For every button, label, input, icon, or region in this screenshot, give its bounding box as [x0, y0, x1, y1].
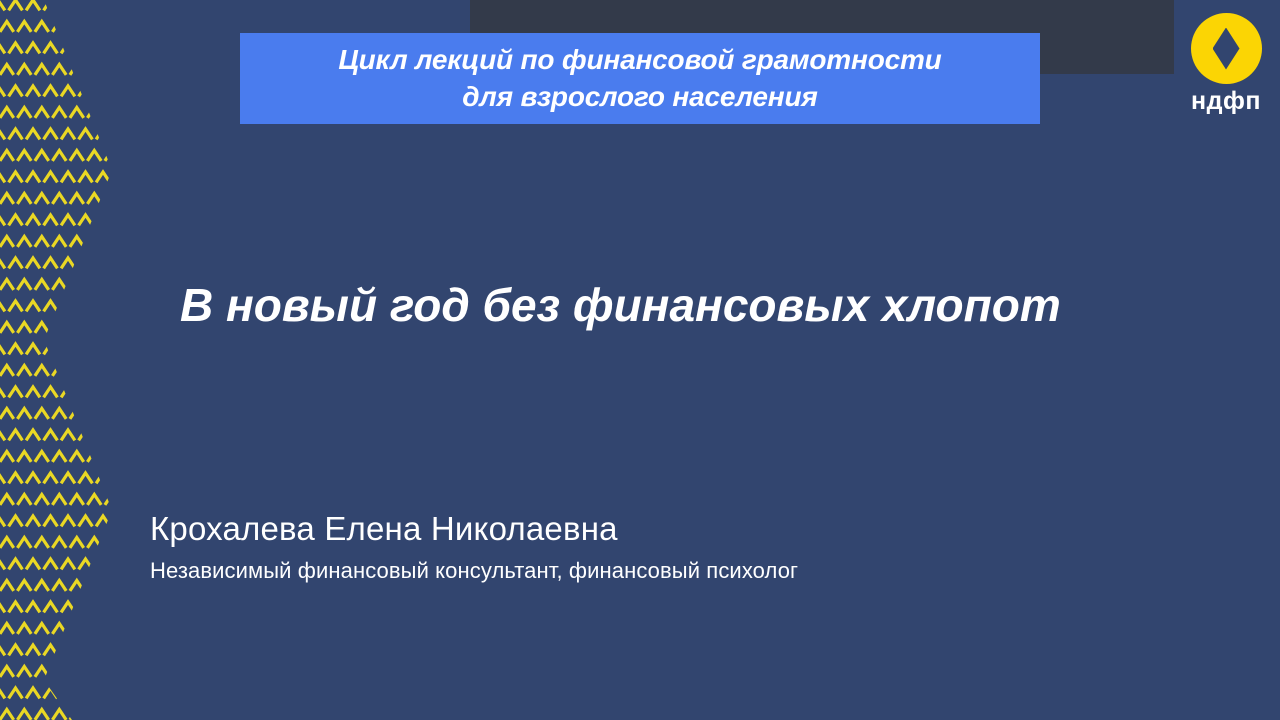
logo-text: ндфп	[1185, 87, 1267, 116]
header-banner: Цикл лекций по финансовой грамотности дл…	[240, 33, 1040, 124]
presentation-slide: Цикл лекций по финансовой грамотности дл…	[0, 0, 1280, 720]
author-role: Независимый финансовый консультант, фина…	[150, 557, 1050, 586]
slide-title: В новый год без финансовых хлопот	[180, 278, 1120, 333]
diamond-shape	[1213, 28, 1240, 70]
header-banner-line-1: Цикл лекций по финансовой грамотности	[338, 42, 941, 79]
author-block: Крохалева Елена Николаевна Независимый ф…	[150, 508, 1050, 586]
chevron-pattern-decoration	[0, 0, 130, 720]
author-name: Крохалева Елена Николаевна	[150, 508, 1050, 549]
organization-logo: ндфп	[1185, 10, 1267, 125]
diamond-in-circle-icon	[1191, 13, 1262, 84]
header-banner-line-2: для взрослого населения	[462, 79, 817, 116]
chevron-pattern-icon	[0, 0, 130, 720]
